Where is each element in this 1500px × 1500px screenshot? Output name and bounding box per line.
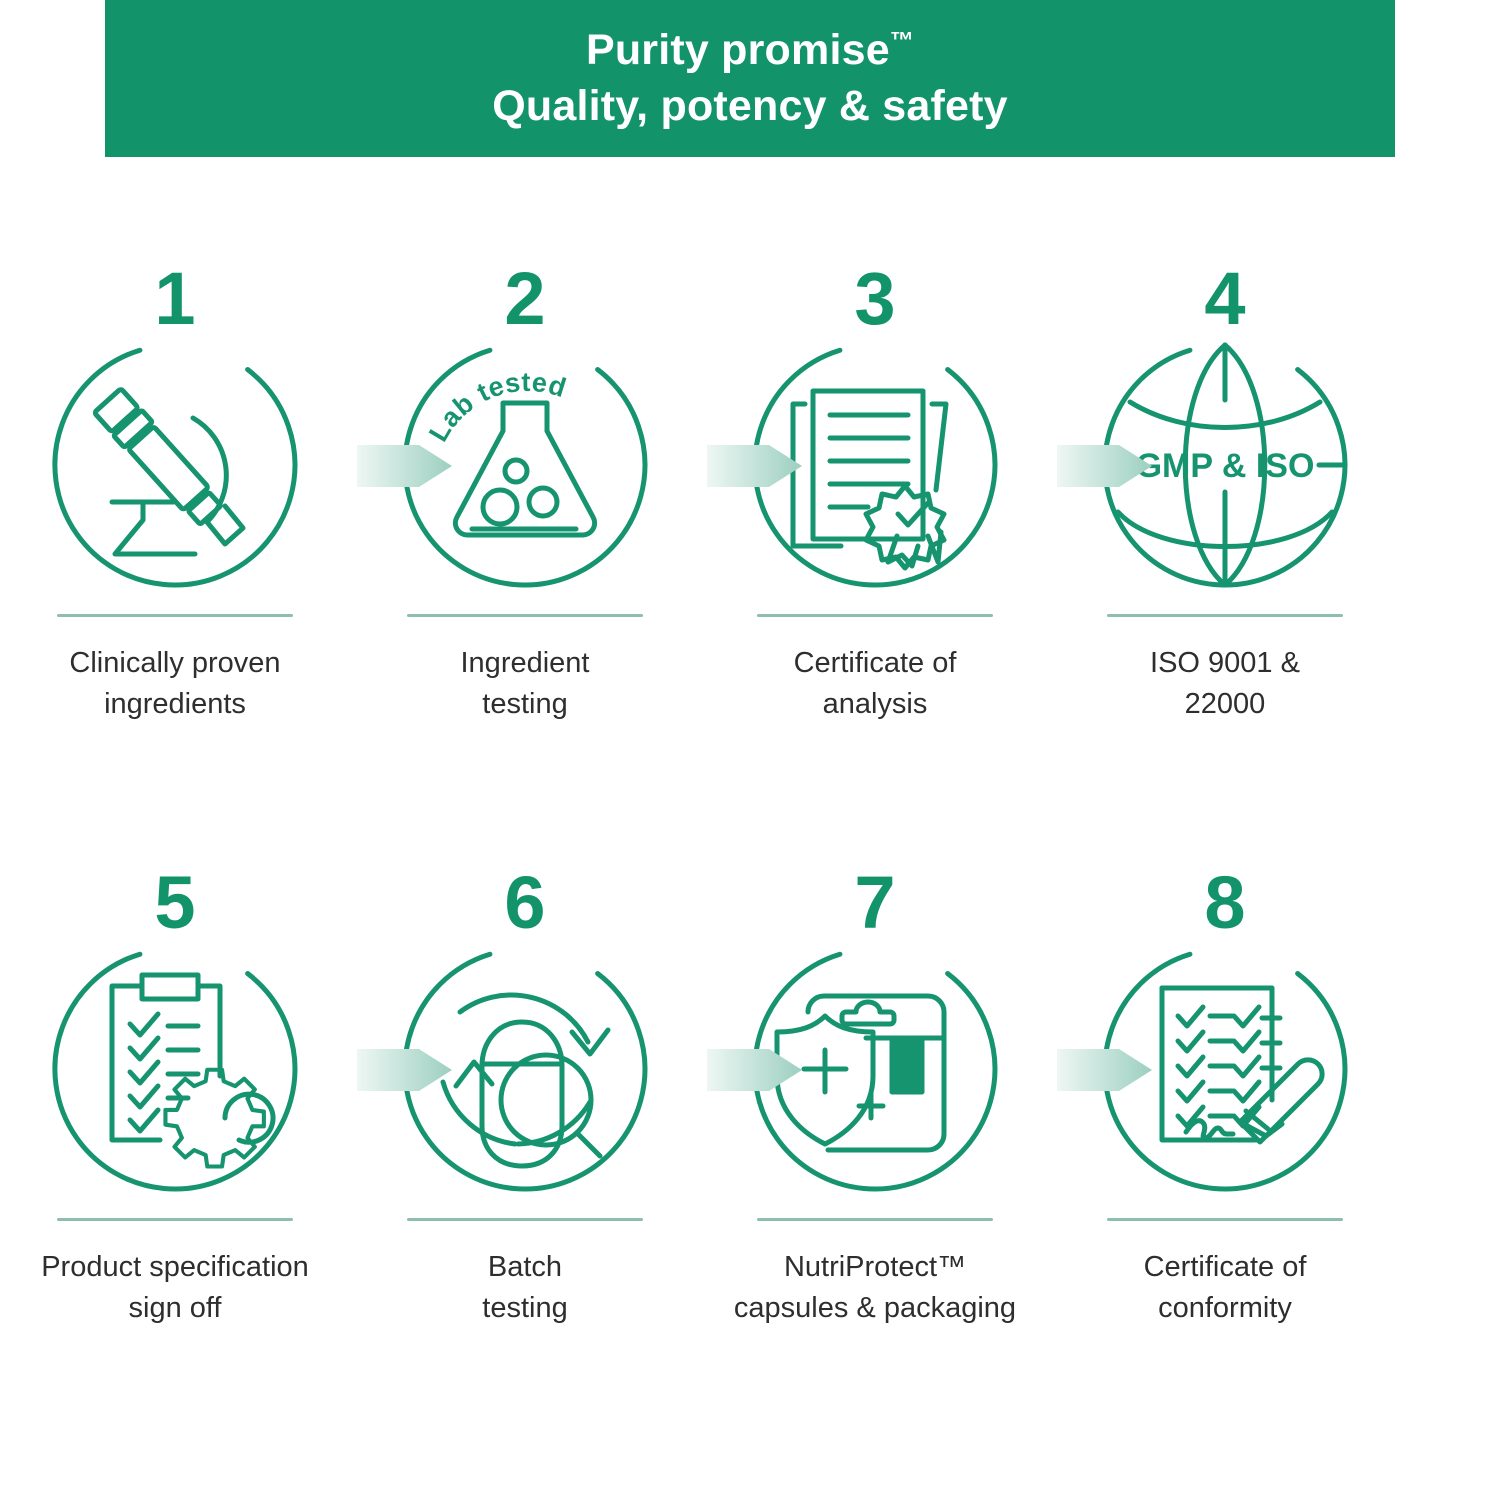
chevron-arrow-3 xyxy=(1057,435,1152,497)
trademark-symbol: ™ xyxy=(890,28,914,55)
step-caption-5: Product specification sign off xyxy=(41,1247,309,1329)
step-number-3: 3 xyxy=(854,258,895,340)
step-divider-5 xyxy=(57,1218,293,1221)
step-caption-2: Ingredient testing xyxy=(461,643,590,725)
steps-row-2: 5 Product specification sign off xyxy=(0,862,1500,1329)
step-card-1[interactable]: 1 Clinically proven ingredients xyxy=(0,258,350,725)
step-number-6: 6 xyxy=(504,862,545,944)
clipboard-gear-icon xyxy=(50,944,300,1194)
header-title-line-1: Purity promise™ xyxy=(586,23,914,78)
step-divider-7 xyxy=(757,1218,993,1221)
chevron-arrow-5 xyxy=(707,1039,802,1101)
step-divider-6 xyxy=(407,1218,643,1221)
chevron-arrow-4 xyxy=(357,1039,452,1101)
step-divider-4 xyxy=(1107,614,1343,617)
step-number-4: 4 xyxy=(1204,258,1245,340)
step-divider-1 xyxy=(57,614,293,617)
microscope-icon xyxy=(50,340,300,590)
step-divider-2 xyxy=(407,614,643,617)
step-number-1: 1 xyxy=(154,258,195,340)
header-title-text: Purity promise xyxy=(586,26,890,74)
step-caption-4: ISO 9001 & 22000 xyxy=(1150,643,1300,725)
step-caption-7: NutriProtect™ capsules & packaging xyxy=(734,1247,1016,1329)
step-caption-6: Batch testing xyxy=(482,1247,567,1329)
steps-row-1: 1 Clinically proven ingredients 2 xyxy=(0,258,1500,725)
step-number-8: 8 xyxy=(1204,862,1245,944)
step-caption-8: Certificate of conformity xyxy=(1144,1247,1307,1329)
step-divider-3 xyxy=(757,614,993,617)
header-banner: Purity promise™ Quality, potency & safet… xyxy=(105,0,1395,157)
step-number-2: 2 xyxy=(504,258,545,340)
chevron-arrow-2 xyxy=(707,435,802,497)
header-title-line-2: Quality, potency & safety xyxy=(492,79,1008,134)
step-number-7: 7 xyxy=(854,862,895,944)
step-card-5[interactable]: 5 Product specification sign off xyxy=(0,862,350,1329)
step-divider-8 xyxy=(1107,1218,1343,1221)
step-caption-3: Certificate of analysis xyxy=(794,643,957,725)
step-number-5: 5 xyxy=(154,862,195,944)
step-caption-1: Clinically proven ingredients xyxy=(69,643,280,725)
gmp-iso-label: GMP & ISO xyxy=(1136,447,1315,485)
chevron-arrow-6 xyxy=(1057,1039,1152,1101)
chevron-arrow-1 xyxy=(357,435,452,497)
